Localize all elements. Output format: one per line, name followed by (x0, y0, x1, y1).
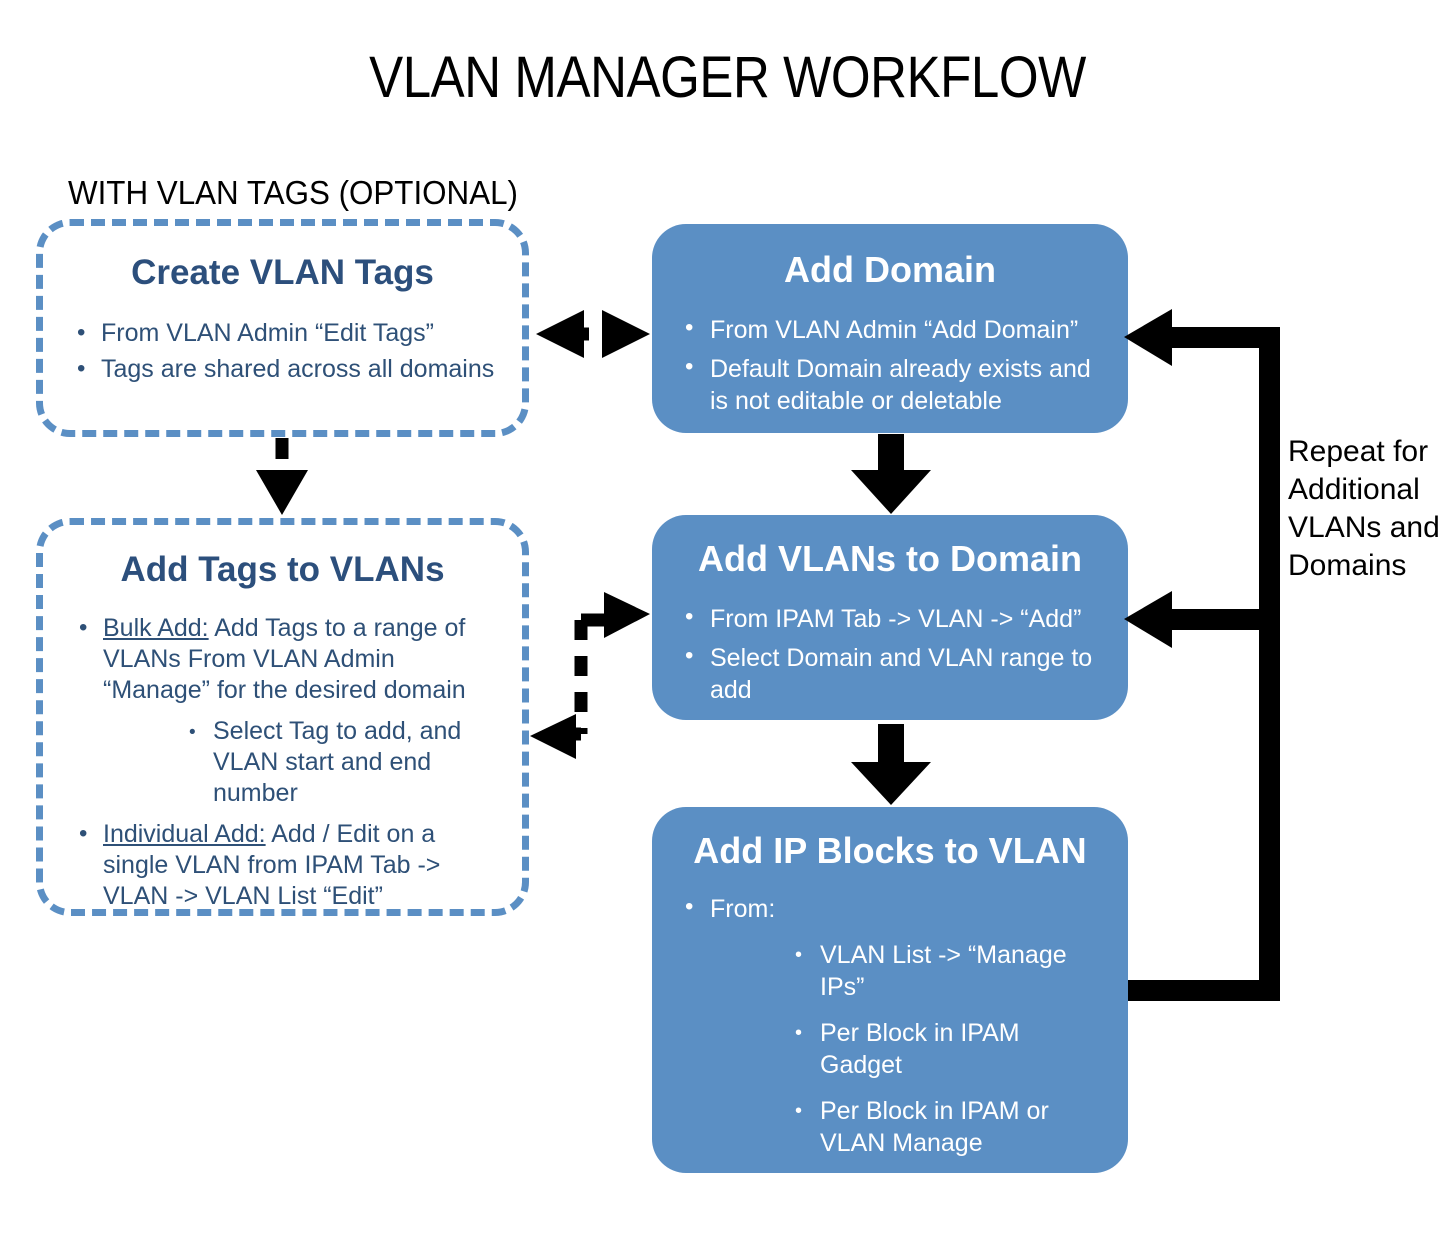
list-item-sub: Per Block in IPAM or VLAN Manage (788, 1095, 1108, 1159)
list-item: Default Domain already exists and is not… (678, 353, 1106, 417)
bullet-emphasis: Bulk Add: (103, 614, 209, 642)
node-add-ip-blocks-to-vlan[interactable]: Add IP Blocks to VLAN From: VLAN List ->… (652, 807, 1128, 1173)
connector-tags-to-add-tags-icon (256, 438, 308, 515)
page-title: VLAN MANAGER WORKFLOW (87, 46, 1367, 110)
list-item-sub: VLAN List -> “Manage IPs” (788, 939, 1108, 1003)
connector-tags-to-domain-icon (536, 310, 650, 358)
bullet-emphasis: Individual Add: (103, 820, 266, 848)
node-title-add-ip-blocks-to-vlan: Add IP Blocks to VLAN (652, 829, 1128, 873)
node-add-domain[interactable]: Add Domain From VLAN Admin “Add Domain” … (652, 224, 1128, 433)
optional-section-label: WITH VLAN TAGS (OPTIONAL) (68, 173, 518, 213)
node-title-create-vlan-tags: Create VLAN Tags (43, 252, 522, 294)
repeat-loop-label: Repeat for Additional VLANs and Domains (1288, 433, 1453, 585)
list-item: From VLAN Admin “Edit Tags” (71, 318, 500, 349)
list-item: Can Direct Assign, Browse, or Search for… (678, 1173, 1108, 1237)
list-item: Individual Add: Add / Edit on a single V… (73, 819, 504, 912)
connector-add-tags-loop-icon (530, 592, 650, 759)
connector-repeat-loop-icon (1124, 309, 1280, 1001)
node-title-add-vlans-to-domain: Add VLANs to Domain (652, 537, 1128, 581)
node-add-tags-to-vlans[interactable]: Add Tags to VLANs Bulk Add: Add Tags to … (36, 518, 529, 916)
node-create-vlan-tags[interactable]: Create VLAN Tags From VLAN Admin “Edit T… (36, 219, 529, 437)
node-title-add-tags-to-vlans: Add Tags to VLANs (43, 549, 522, 591)
node-title-add-domain: Add Domain (652, 248, 1128, 292)
workflow-diagram: VLAN MANAGER WORKFLOW WITH VLAN TAGS (OP… (0, 0, 1455, 1252)
list-item: Bulk Add: Add Tags to a range of VLANs F… (73, 613, 504, 706)
node-bullets-add-ip-blocks-to-vlan: From: VLAN List -> “Manage IPs” Per Bloc… (678, 893, 1108, 1237)
list-item-sub: Select Tag to add, and VLAN start and en… (183, 716, 504, 809)
list-item: From: (678, 893, 1108, 925)
node-bullets-add-tags-to-vlans: Bulk Add: Add Tags to a range of VLANs F… (73, 613, 504, 912)
list-item: Tags are shared across all domains (71, 354, 500, 385)
list-item: From VLAN Admin “Add Domain” (678, 314, 1106, 346)
node-add-vlans-to-domain[interactable]: Add VLANs to Domain From IPAM Tab -> VLA… (652, 515, 1128, 720)
node-bullets-create-vlan-tags: From VLAN Admin “Edit Tags” Tags are sha… (71, 318, 500, 385)
list-item: Select Domain and VLAN range to add (678, 642, 1106, 706)
list-item: From IPAM Tab -> VLAN -> “Add” (678, 603, 1106, 635)
list-item-sub: Per Block in IPAM Gadget (788, 1017, 1108, 1081)
connector-vlans-to-ipblocks-icon (851, 724, 931, 805)
connector-domain-to-vlans-icon (851, 434, 931, 514)
node-bullets-add-vlans-to-domain: From IPAM Tab -> VLAN -> “Add” Select Do… (678, 603, 1106, 706)
node-bullets-add-domain: From VLAN Admin “Add Domain” Default Dom… (678, 314, 1106, 417)
